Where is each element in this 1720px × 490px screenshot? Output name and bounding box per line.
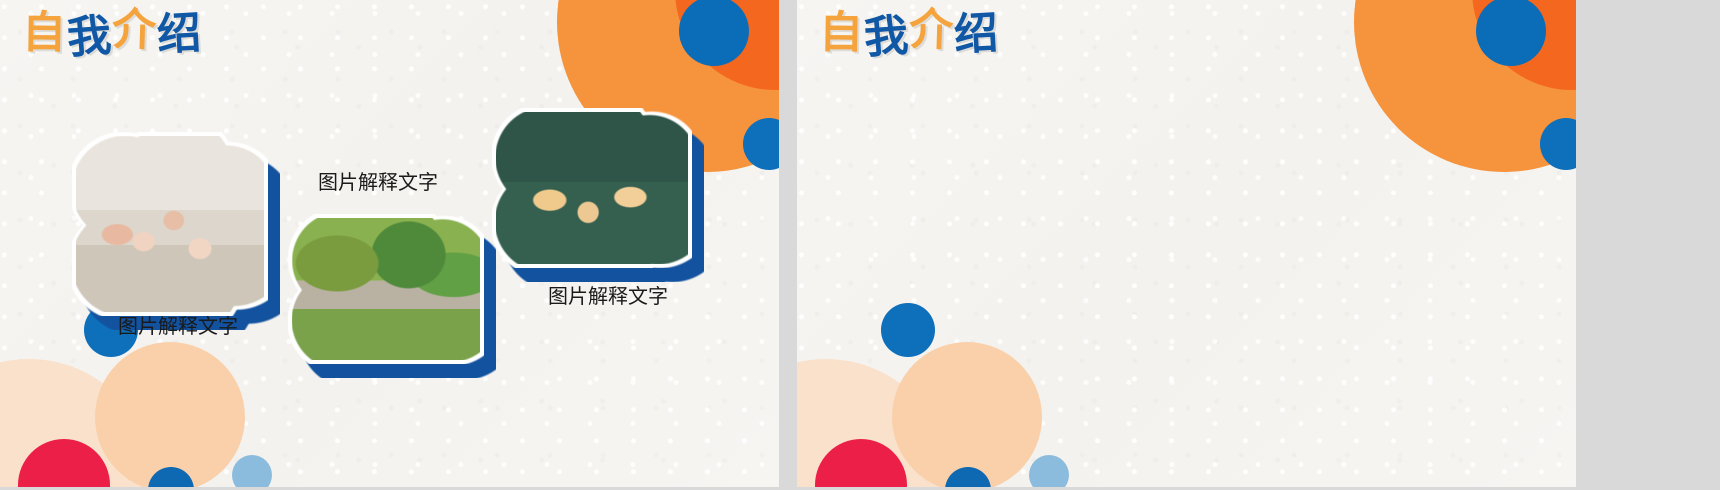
title-char-2: 我: [863, 14, 911, 61]
photo-clip: [496, 112, 688, 264]
deco-lightblue-circle: [232, 455, 272, 487]
photo-image-family-park-walk: [292, 218, 480, 360]
title-char-4: 绍: [953, 11, 1000, 57]
title-char-3: 介: [908, 8, 954, 53]
title-char-4: 绍: [156, 11, 203, 57]
deco-peach-wedge: [0, 359, 154, 487]
title-char-1: 自: [819, 11, 865, 56]
page-title: 自我介绍: [22, 10, 203, 58]
title-char-3: 介: [111, 8, 157, 53]
photo-frame-family-park-walk[interactable]: [288, 214, 484, 364]
deco-blue-dot: [881, 303, 935, 357]
deco-peach-wedge: [797, 359, 951, 487]
page-title: 自我介绍: [819, 10, 1000, 58]
deco-blue-circle-small: [148, 467, 194, 487]
photo-caption-1: 图片解释文字: [118, 310, 238, 339]
photo-image-students-blackboard: [496, 112, 688, 264]
deco-blue-circle-top: [679, 0, 749, 66]
deco-orange-circle-large: [1354, 0, 1576, 172]
photo-caption-3: 图片解释文字: [548, 280, 668, 309]
photo-clip: [76, 136, 264, 312]
deco-blue-circle-small: [945, 467, 991, 487]
deco-blue-circle-right: [1540, 118, 1576, 170]
title-char-2: 我: [66, 14, 114, 61]
photo-caption-2: 图片解释文字: [318, 166, 438, 195]
deco-orange-circle-dark: [675, 0, 779, 90]
photo-frame-students-blackboard[interactable]: [492, 108, 692, 268]
slide-traits[interactable]: 自我介绍 乐于 助人: [797, 0, 1576, 487]
photo-clip: [292, 218, 480, 360]
slide-deck: 自我介绍 图片解释文字 图片解释文字 图片解释文: [0, 0, 1720, 490]
deco-blue-circle-top: [1476, 0, 1546, 66]
deco-orange-circle-dark: [1472, 0, 1576, 90]
deco-lightblue-circle: [1029, 455, 1069, 487]
slide-photos[interactable]: 自我介绍 图片解释文字 图片解释文字 图片解释文: [0, 0, 779, 487]
photo-frame-family-living-room[interactable]: [72, 132, 268, 316]
title-char-1: 自: [22, 11, 68, 56]
photo-image-family-living-room: [76, 136, 264, 312]
deco-blue-circle-right: [743, 118, 779, 170]
